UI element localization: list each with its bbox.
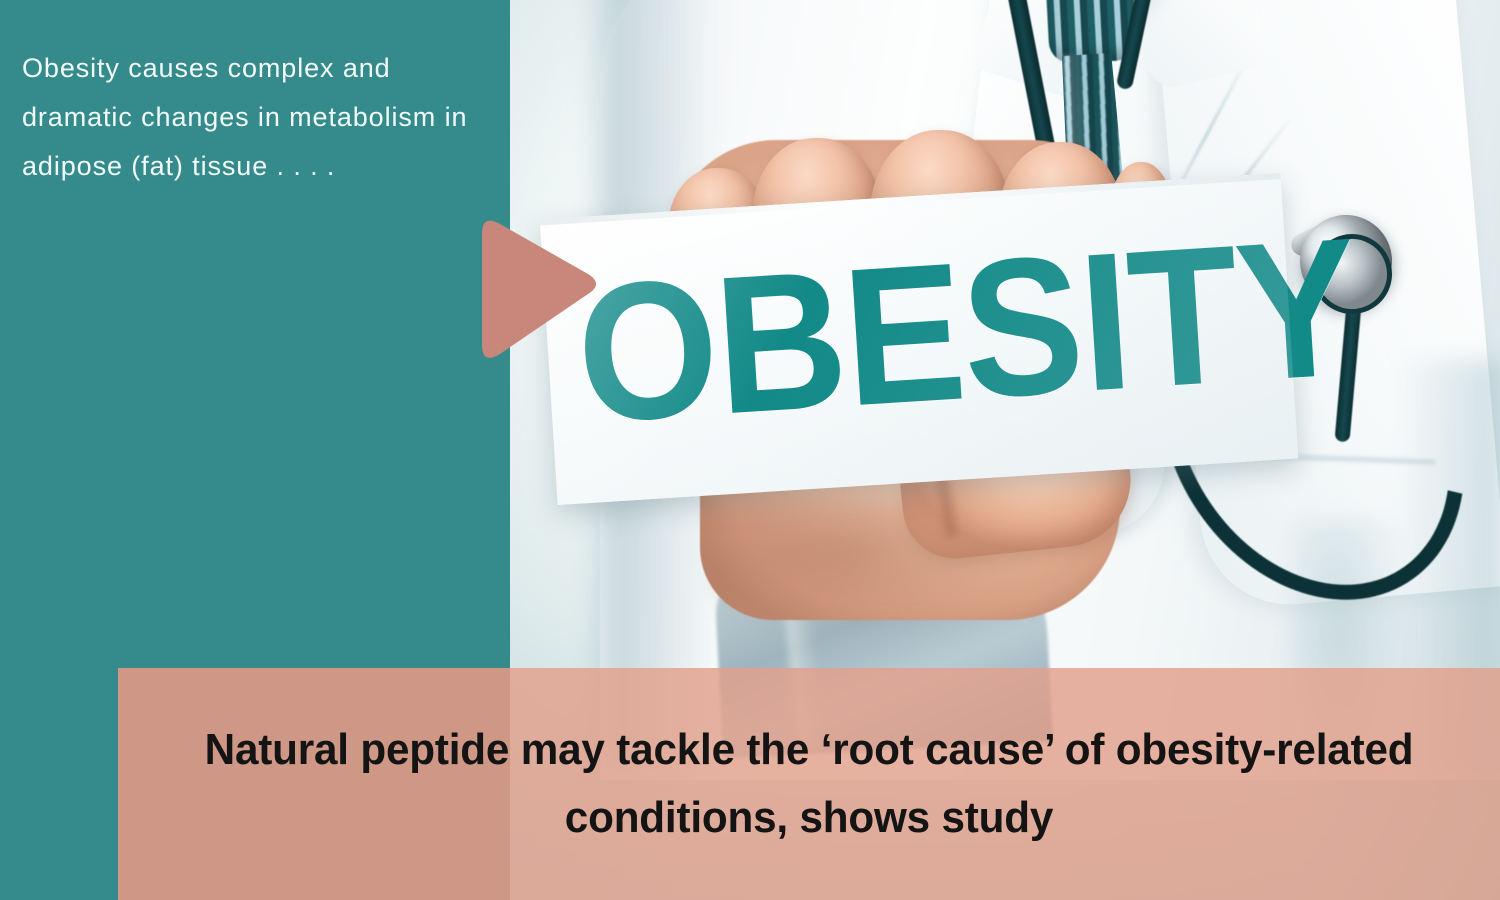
obesity-sign-card: OBESITY — [540, 173, 1298, 505]
headline-container: Natural peptide may tackle the ‘root cau… — [118, 668, 1500, 900]
headline-text: Natural peptide may tackle the ‘root cau… — [184, 716, 1434, 852]
play-triangle-icon[interactable] — [462, 212, 598, 367]
obesity-sign-text: OBESITY — [571, 193, 1267, 475]
news-card-image: OBESITY Obesity causes complex and drama… — [0, 0, 1500, 900]
intro-text: Obesity causes complex and dramatic chan… — [22, 44, 484, 191]
